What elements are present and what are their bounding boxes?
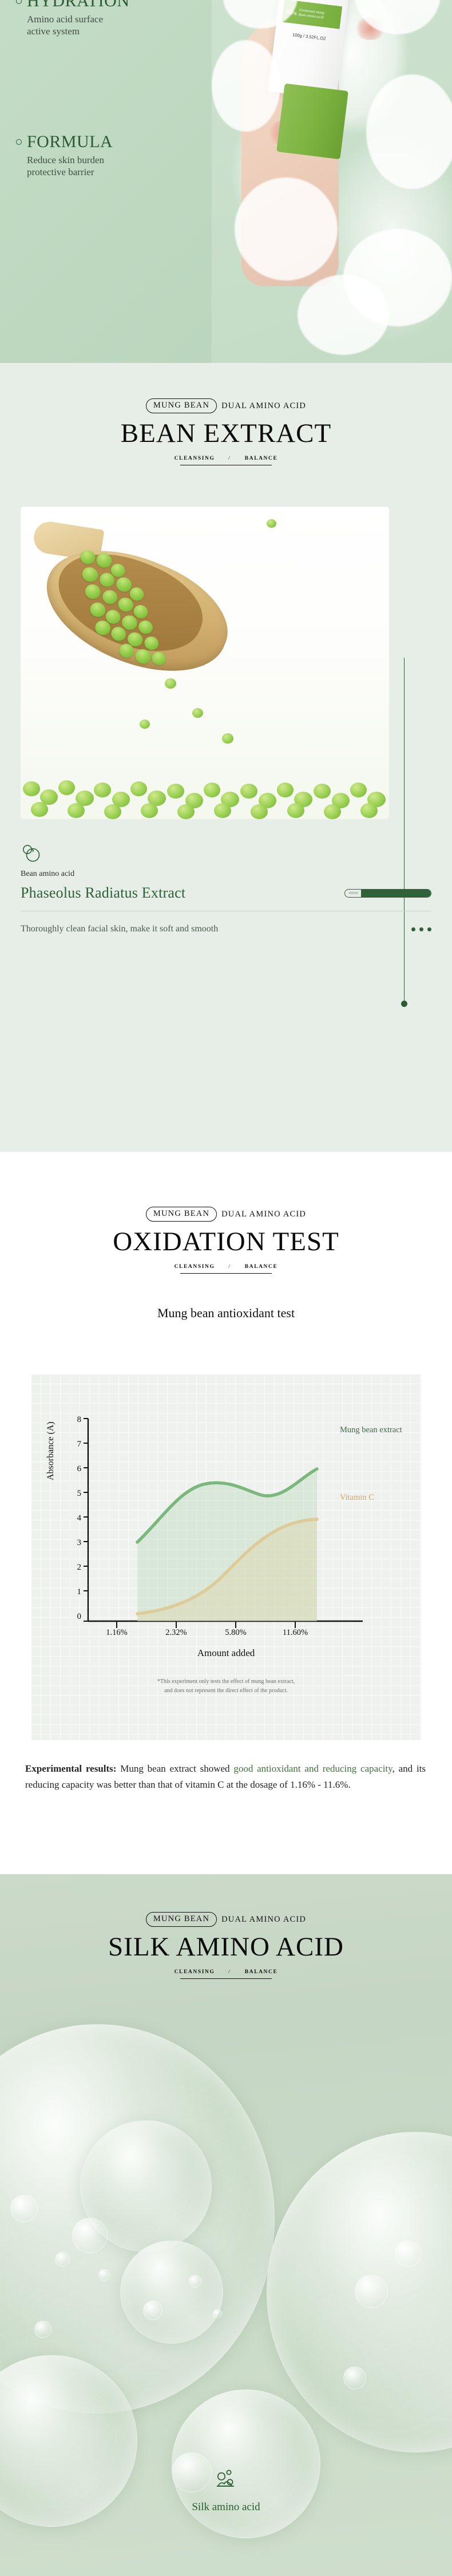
bubbles-icon bbox=[21, 857, 40, 867]
ingredient-row: Phaseolus Radiatus Extract <<<< bbox=[21, 884, 431, 902]
chart-title: Mung bean antioxidant test bbox=[0, 1306, 452, 1321]
legend-vitamin-c: Vitamin C bbox=[340, 1493, 374, 1503]
bean-kicker-left: CLEANSING bbox=[175, 456, 215, 461]
feature-title: FORMULA bbox=[27, 133, 113, 151]
oxidation-eyebrow: MUNG BEAN DUAL AMINO ACID bbox=[0, 1207, 452, 1222]
feature-hydration: HYDRATION Amino acid surface active syst… bbox=[16, 0, 130, 38]
silk-footer: Silk amino acid bbox=[0, 2467, 452, 2514]
bean-ingredient-block: Bean amino acid Phaseolus Radiatus Extra… bbox=[21, 843, 431, 934]
silk-title: SILK AMINO ACID bbox=[0, 1932, 452, 1962]
oxidation-kicker-rule bbox=[180, 1273, 272, 1274]
oxidation-title: OXIDATION TEST bbox=[0, 1227, 452, 1257]
oxidation-test-section: MUNG BEAN DUAL AMINO ACID OXIDATION TEST… bbox=[0, 1152, 452, 1874]
decorative-vertical-line bbox=[404, 658, 405, 1005]
decorative-dot bbox=[401, 1001, 407, 1007]
silk-footer-label: Silk amino acid bbox=[0, 2501, 452, 2514]
bean-kicker-sep: / bbox=[228, 455, 231, 461]
ingredient-slider[interactable]: <<<< bbox=[344, 889, 431, 898]
bean-eyebrow-pill: MUNG BEAN bbox=[146, 398, 217, 413]
mung-bean-photo bbox=[21, 507, 389, 819]
feature-formula: FORMULA Reduce skin burden protective ba… bbox=[16, 133, 113, 179]
dot-1 bbox=[411, 927, 415, 931]
dot-3 bbox=[427, 927, 431, 931]
wooden-scoop bbox=[21, 507, 282, 748]
slider-arrows: <<<< bbox=[345, 891, 361, 896]
bean-kicker: CLEANSING / BALANCE bbox=[0, 456, 452, 461]
oxidation-kicker: CLEANSING / BALANCE bbox=[0, 1264, 452, 1270]
feature-title: HYDRATION bbox=[27, 0, 130, 10]
bean-section-header: MUNG BEAN DUAL AMINO ACID BEAN EXTRACT C… bbox=[0, 363, 452, 465]
results-highlight: good antioxidant and reducing capacity bbox=[233, 1763, 392, 1774]
pagination-dots[interactable] bbox=[411, 927, 431, 931]
results-label: Experimental results: bbox=[25, 1763, 116, 1774]
bean-eyebrow: MUNG BEAN DUAL AMINO ACID bbox=[0, 398, 452, 413]
x-tick-3: 11.60% bbox=[271, 1628, 320, 1638]
bullet-ring-icon bbox=[16, 139, 22, 145]
gel-bubble-mid-2 bbox=[120, 2241, 223, 2344]
bean-kicker-rule bbox=[180, 465, 272, 465]
hero-section: OIL CONTROL ACNES ANTI-OXIDATION 98% Fer… bbox=[0, 0, 452, 363]
bullet-ring-icon bbox=[16, 0, 22, 4]
ingredient-divider bbox=[21, 911, 431, 911]
ingredient-name: Phaseolus Radiatus Extract bbox=[21, 884, 185, 902]
silk-section-header: MUNG BEAN DUAL AMINO ACID SILK AMINO ACI… bbox=[0, 1874, 452, 1979]
oxidation-kicker-sep: / bbox=[228, 1263, 231, 1270]
silk-eyebrow: MUNG BEAN DUAL AMINO ACID bbox=[0, 1912, 452, 1927]
ingredient-label: Bean amino acid bbox=[21, 870, 431, 879]
silk-kicker-sep: / bbox=[228, 1969, 231, 1975]
oxidation-kicker-right: BALANCE bbox=[245, 1264, 278, 1270]
bean-pile bbox=[21, 757, 389, 819]
oxidation-section-header: MUNG BEAN DUAL AMINO ACID OXIDATION TEST… bbox=[0, 1152, 452, 1274]
silk-kicker-left: CLEANSING bbox=[175, 1969, 215, 1975]
legend-mung-bean-extract: Mung bean extract bbox=[340, 1424, 409, 1436]
x-tick-0: 1.16% bbox=[92, 1628, 141, 1638]
experimental-results-paragraph: Experimental results: Mung bean extract … bbox=[25, 1761, 426, 1792]
oxidation-kicker-left: CLEANSING bbox=[175, 1264, 215, 1270]
bean-eyebrow-rest: DUAL AMINO ACID bbox=[221, 401, 306, 411]
bubbles-icon bbox=[215, 2484, 237, 2494]
x-tick-2: 5.80% bbox=[211, 1628, 260, 1638]
results-part1: Mung bean extract showed bbox=[116, 1763, 233, 1774]
antioxidant-chart: Absorbance (A) 8 7 6 5 4 3 2 1 0 bbox=[31, 1374, 421, 1740]
chart-footnote: *This experiment only tests the effect o… bbox=[65, 1677, 387, 1696]
hero-product-photo: OIL CONTROL ACNES ANTI-OXIDATION 98% Fer… bbox=[212, 0, 452, 363]
silk-kicker-right: BALANCE bbox=[245, 1969, 278, 1975]
feature-subtitle: Reduce skin burden protective barrier bbox=[16, 154, 113, 179]
tube-badge-text: Fermented mung Bean amino acid bbox=[298, 8, 324, 21]
ingredient-description-row: Thoroughly clean facial skin, make it so… bbox=[21, 924, 431, 934]
chart-x-axis-label: Amount added bbox=[31, 1647, 421, 1659]
oxidation-eyebrow-rest: DUAL AMINO ACID bbox=[221, 1210, 306, 1219]
bean-title: BEAN EXTRACT bbox=[0, 418, 452, 449]
silk-kicker: CLEANSING / BALANCE bbox=[0, 1969, 452, 1975]
oxidation-eyebrow-pill: MUNG BEAN bbox=[146, 1207, 217, 1222]
slider-fill bbox=[361, 890, 431, 897]
silk-eyebrow-pill: MUNG BEAN bbox=[146, 1912, 217, 1927]
tube-cap bbox=[276, 84, 348, 160]
feature-subtitle: Amino acid surface active system bbox=[16, 13, 130, 38]
bean-kicker-right: BALANCE bbox=[245, 456, 278, 461]
silk-amino-acid-section: MUNG BEAN DUAL AMINO ACID SILK AMINO ACI… bbox=[0, 1874, 452, 2576]
tube-size: 100g / 3.52FL.OZ bbox=[275, 30, 343, 44]
ingredient-description: Thoroughly clean facial skin, make it so… bbox=[21, 924, 218, 934]
x-tick-1: 2.32% bbox=[152, 1628, 201, 1638]
silk-kicker-rule bbox=[180, 1978, 272, 1979]
dot-2 bbox=[419, 927, 423, 931]
bean-extract-section: MUNG BEAN DUAL AMINO ACID BEAN EXTRACT C… bbox=[0, 363, 452, 1152]
silk-eyebrow-rest: DUAL AMINO ACID bbox=[221, 1915, 306, 1925]
